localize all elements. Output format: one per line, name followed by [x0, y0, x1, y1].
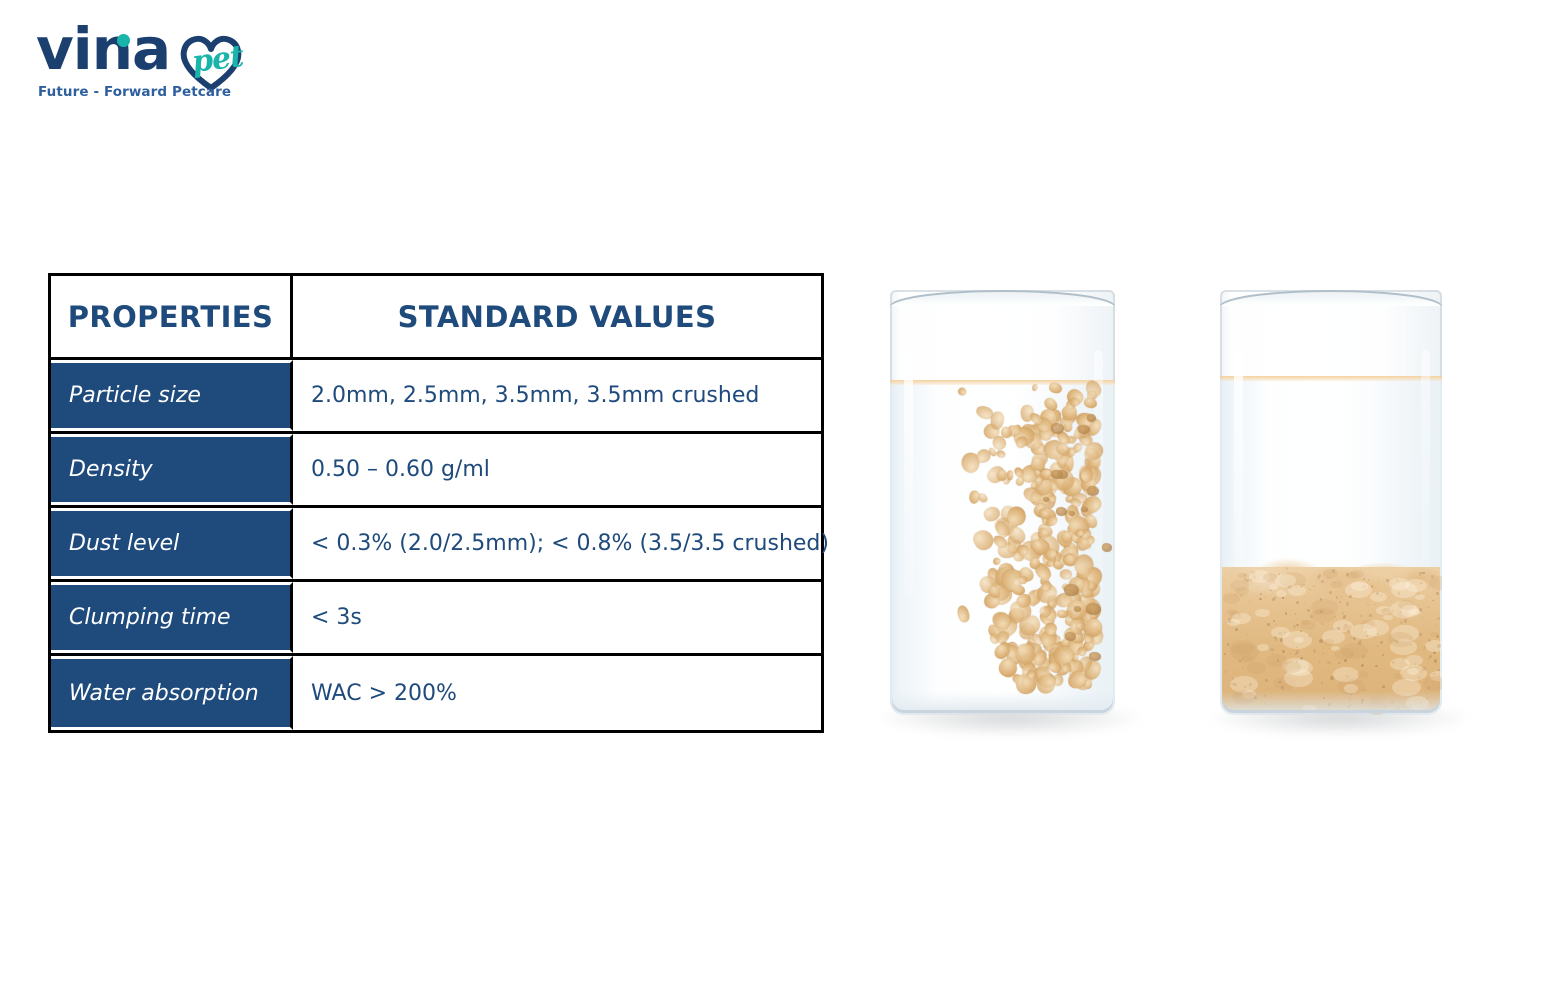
sediment-speck	[1400, 621, 1403, 624]
sediment-mottle	[1423, 676, 1442, 690]
sediment-speck	[1296, 624, 1298, 626]
granule-dark	[1102, 543, 1113, 552]
granule-dark	[1078, 425, 1089, 434]
sediment-speck	[1271, 626, 1272, 627]
sediment-speck	[1293, 625, 1296, 628]
row-value-label: < 0.3% (2.0/2.5mm); < 0.8% (3.5/3.5 crus…	[311, 531, 829, 556]
sediment-speck	[1272, 653, 1273, 654]
sediment-speck	[1243, 667, 1245, 669]
row-value-cell: WAC > 200%	[293, 656, 821, 730]
sediment-speck	[1273, 620, 1275, 622]
sediment-speck	[1350, 637, 1352, 639]
granule-dark	[1086, 603, 1101, 615]
sediment-speck	[1317, 576, 1319, 578]
header-cell-standard-values: STANDARD VALUES	[293, 276, 821, 357]
sediment-mottle	[1405, 655, 1424, 666]
sediment-speck	[1346, 602, 1349, 605]
sediment-mottle	[1381, 608, 1393, 615]
granule	[956, 604, 972, 624]
row-property-label: Water absorption	[69, 681, 259, 706]
sediment-speck	[1313, 649, 1316, 652]
sediment-mottle	[1276, 590, 1287, 596]
sediment-mottle	[1232, 613, 1250, 624]
sediment-speck	[1375, 665, 1378, 668]
sediment-speck	[1437, 617, 1440, 620]
row-value-label: WAC > 200%	[311, 681, 457, 706]
sediment-speck	[1307, 609, 1310, 612]
table-row: Density 0.50 – 0.60 g/ml	[51, 434, 821, 508]
sediment-speck	[1343, 617, 1345, 619]
sediment-speck	[1368, 579, 1369, 580]
row-value-cell: 0.50 – 0.60 g/ml	[293, 434, 821, 505]
row-value-cell: < 3s	[293, 582, 821, 653]
sediment-speck	[1336, 596, 1338, 598]
logo-tagline: Future - Forward Petcare	[38, 84, 231, 100]
sediment-mottle	[1394, 673, 1403, 679]
sediment-mottle	[1357, 671, 1369, 678]
glass-base-right	[1222, 691, 1440, 713]
sediment-speck	[1377, 645, 1378, 646]
sediment-speck	[1375, 604, 1376, 605]
granule	[1017, 545, 1029, 555]
sediment-speck	[1378, 581, 1379, 582]
sediment-speck	[1265, 679, 1268, 682]
row-value-label: 2.0mm, 2.5mm, 3.5mm, 3.5mm crushed	[311, 383, 759, 408]
header-cell-properties: PROPERTIES	[51, 276, 293, 357]
sediment-speck	[1249, 601, 1250, 602]
sediment-speck	[1275, 623, 1276, 624]
sediment-speck	[1422, 572, 1424, 574]
granule-cluster	[890, 290, 1115, 715]
sediment-speck	[1327, 661, 1330, 664]
sediment-mottle	[1415, 594, 1425, 600]
granule-dark	[1051, 423, 1064, 433]
granule	[1031, 384, 1038, 392]
table-row: Water absorption WAC > 200%	[51, 656, 821, 730]
granule	[971, 526, 997, 553]
sediment-speck	[1295, 653, 1297, 655]
granule	[1048, 381, 1063, 394]
granule	[996, 450, 1006, 458]
sediment-speck	[1341, 596, 1342, 597]
sediment-speck	[1304, 603, 1305, 604]
sediment-mottle	[1323, 639, 1334, 645]
granule-dark	[1087, 486, 1099, 496]
sediment-mottle	[1429, 576, 1442, 590]
sediment-speck	[1295, 613, 1297, 615]
sediment-speck	[1225, 671, 1227, 673]
sediment-speck	[1285, 612, 1287, 614]
sediment-speck	[1434, 625, 1435, 626]
sediment-speck	[1436, 592, 1439, 595]
sediment-mottle	[1370, 592, 1387, 602]
row-value-label: < 3s	[311, 605, 362, 630]
sediment-speck	[1297, 619, 1298, 620]
granule	[969, 490, 979, 503]
sediment-speck	[1272, 598, 1275, 601]
sediment-mottle	[1301, 620, 1310, 625]
sediment-mottle	[1247, 662, 1267, 674]
sediment-speck	[1404, 619, 1408, 623]
row-property-cell: Water absorption	[51, 656, 293, 730]
sediment-speck	[1363, 578, 1365, 580]
sediment-speck	[1342, 612, 1344, 614]
row-property-cell: Density	[51, 434, 293, 505]
sediment-speck	[1438, 669, 1440, 671]
sediment-speck	[1382, 686, 1385, 689]
sediment-mottle	[1407, 668, 1419, 675]
sediment-speck	[1361, 664, 1364, 667]
granule-dark	[1089, 652, 1101, 661]
sediment-mottle	[1346, 572, 1358, 579]
sediment-mottle	[1255, 609, 1270, 618]
header-label-standard-values: STANDARD VALUES	[398, 300, 717, 334]
sediment-mottle	[1383, 615, 1392, 621]
sediment-speck	[1419, 633, 1422, 636]
sediment-speck	[1224, 653, 1225, 654]
sediment-mottle	[1391, 582, 1417, 598]
sediment-speck	[1257, 587, 1258, 588]
row-value-label: 0.50 – 0.60 g/ml	[311, 457, 490, 482]
sediment-speck	[1339, 601, 1341, 603]
sediment-speck	[1423, 649, 1424, 650]
sediment-speck	[1319, 661, 1321, 663]
sediment-mottle	[1425, 640, 1442, 652]
sediment-mottle	[1241, 655, 1254, 663]
sediment-speck	[1313, 585, 1315, 587]
row-property-label: Density	[69, 457, 153, 482]
sediment-speck	[1282, 597, 1284, 599]
sediment-speck	[1369, 614, 1372, 617]
header-label-properties: PROPERTIES	[68, 300, 274, 334]
sediment-speck	[1434, 659, 1438, 663]
sediment-speck	[1227, 643, 1230, 646]
sediment-mottle	[1230, 640, 1255, 655]
sediment-speck	[1270, 648, 1273, 651]
row-property-cell: Dust level	[51, 508, 293, 579]
sediment-speck	[1321, 682, 1323, 684]
sediment-speck	[1309, 589, 1310, 590]
sediment-mottle	[1350, 624, 1376, 640]
sediment-speck	[1419, 572, 1422, 575]
sediment-mottle	[1330, 581, 1343, 589]
sediment-mottle	[1257, 644, 1269, 651]
sediment-mottle	[1401, 605, 1420, 616]
sediment-speck	[1260, 593, 1262, 595]
row-property-label: Particle size	[69, 383, 201, 408]
sediment-speck	[1428, 607, 1429, 608]
sediment-speck	[1247, 634, 1248, 635]
sediment-speck	[1422, 617, 1423, 618]
row-value-cell: 2.0mm, 2.5mm, 3.5mm, 3.5mm crushed	[293, 360, 821, 431]
glass-rim-right	[1220, 290, 1442, 306]
row-property-label: Dust level	[69, 531, 179, 556]
sediment-speck	[1235, 628, 1239, 632]
row-property-cell: Particle size	[51, 360, 293, 431]
table-row: Particle size 2.0mm, 2.5mm, 3.5mm, 3.5mm…	[51, 360, 821, 434]
sediment-mottle	[1351, 581, 1368, 591]
granule-dark	[1051, 470, 1062, 479]
sediment-speck	[1322, 623, 1324, 625]
sediment-mottle	[1238, 573, 1247, 578]
granule-dark	[1069, 511, 1075, 516]
sediment-mottle	[1223, 593, 1240, 603]
glass-with-suspended-granules	[890, 290, 1115, 715]
sediment-mottle	[1323, 569, 1338, 578]
sediment-speck	[1290, 653, 1291, 654]
logo-i-dot-icon	[117, 34, 130, 47]
sediment-speck	[1264, 597, 1265, 598]
row-property-label: Clumping time	[69, 605, 231, 630]
glass-with-settled-clump	[1220, 290, 1442, 715]
table-header-row: PROPERTIES STANDARD VALUES	[51, 276, 821, 360]
sediment-speck	[1338, 662, 1339, 663]
sediment-speck	[1382, 654, 1384, 656]
sediment-speck	[1259, 598, 1262, 601]
sediment-speck	[1321, 580, 1324, 583]
row-value-cell: < 0.3% (2.0/2.5mm); < 0.8% (3.5/3.5 crus…	[293, 508, 829, 579]
sediment-speck	[1286, 567, 1288, 569]
sediment-speck	[1296, 601, 1299, 604]
table-row: Dust level < 0.3% (2.0/2.5mm); < 0.8% (3…	[51, 508, 821, 582]
brand-logo: vina pet Future - Forward Petcare	[32, 18, 262, 110]
granule-dark	[1074, 606, 1081, 612]
logo-wordmark: vina	[36, 18, 170, 80]
sediment-speck	[1367, 604, 1369, 606]
granule-dark	[1056, 507, 1067, 515]
sediment-speck	[1329, 648, 1330, 649]
sediment-speck	[1429, 655, 1432, 658]
sediment-speck	[1432, 600, 1434, 602]
granule-dark	[1087, 414, 1096, 422]
granule-dark	[1043, 497, 1049, 502]
sediment-speck	[1360, 615, 1362, 617]
granule	[1007, 470, 1014, 480]
logo-pet-text: pet	[190, 39, 245, 80]
sediment-speck	[1380, 641, 1383, 644]
sediment-speck	[1267, 623, 1270, 626]
table-row: Clumping time < 3s	[51, 582, 821, 656]
sediment-speck	[1245, 597, 1246, 598]
sediment-speck	[1322, 653, 1323, 654]
row-property-cell: Clumping time	[51, 582, 293, 653]
sediment-speck	[1329, 591, 1332, 594]
sediment-speck	[1282, 650, 1285, 653]
sediment-speck	[1428, 658, 1430, 660]
water-surface-line-right	[1220, 376, 1442, 381]
sediment-mottle	[1235, 587, 1249, 596]
sediment-mottle	[1288, 585, 1307, 596]
specifications-table: PROPERTIES STANDARD VALUES Particle size…	[48, 273, 824, 733]
granule	[957, 387, 968, 397]
granule-dark	[1064, 584, 1078, 596]
